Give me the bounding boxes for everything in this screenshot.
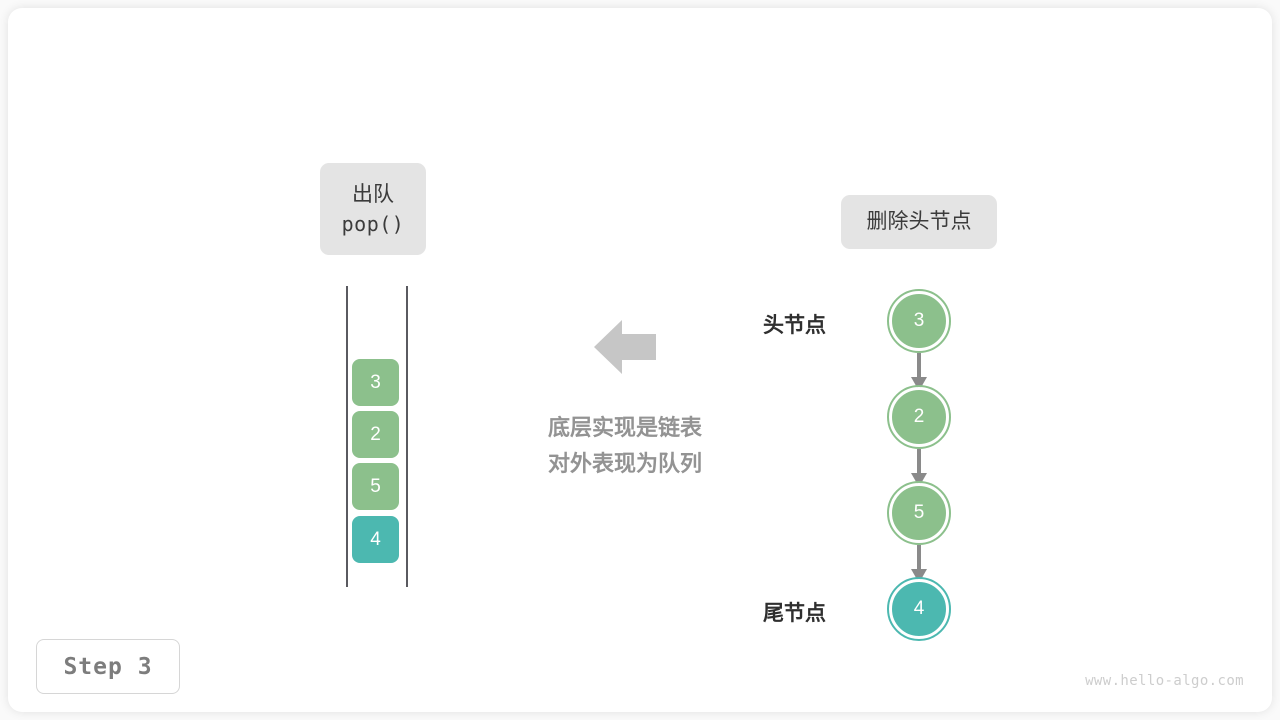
linked-list-edge-arrow-icon — [906, 545, 932, 583]
queue-cell: 5 — [352, 463, 399, 510]
implementation-label-text: 删除头节点 — [867, 207, 972, 237]
center-caption: 底层实现是链表 对外表现为队列 — [500, 410, 750, 482]
center-caption-line-1: 底层实现是链表 — [500, 410, 750, 446]
operation-label-method: pop() — [342, 210, 405, 238]
queue-cell-value: 5 — [370, 476, 381, 498]
queue-cell: 4 — [352, 516, 399, 563]
linked-list-node: 5 — [889, 483, 949, 543]
linked-list-node-value: 4 — [914, 598, 925, 620]
arrow-left-icon — [594, 317, 656, 377]
queue-cell: 2 — [352, 411, 399, 458]
tail-node-label: 尾节点 — [706, 597, 826, 627]
queue-cell-value: 3 — [370, 372, 381, 394]
queue-cell-value: 4 — [370, 529, 381, 551]
watermark: www.hello-algo.com — [1085, 673, 1244, 689]
queue-rail-right — [406, 286, 408, 587]
linked-list-node-value: 2 — [914, 406, 925, 428]
linked-list-edge-arrow-icon — [906, 449, 932, 487]
linked-list-node-value: 5 — [914, 502, 925, 524]
operation-label-title: 出队 — [352, 180, 394, 210]
linked-list-edge-arrow-icon — [906, 353, 932, 391]
queue-rail-left — [346, 286, 348, 587]
operation-label-box: 出队 pop() — [320, 163, 426, 255]
linked-list-node-value: 3 — [914, 310, 925, 332]
diagram-canvas: 出队 pop() 删除头节点 3254 底层实现是链表 对外表现为队列 3254… — [0, 0, 1280, 720]
queue-cell: 3 — [352, 359, 399, 406]
step-badge: Step 3 — [36, 639, 180, 694]
linked-list-node: 2 — [889, 387, 949, 447]
center-caption-line-2: 对外表现为队列 — [500, 446, 750, 482]
linked-list-node: 3 — [889, 291, 949, 351]
step-badge-label: Step 3 — [63, 654, 152, 680]
queue-cell-value: 2 — [370, 424, 381, 446]
linked-list-node: 4 — [889, 579, 949, 639]
head-node-label: 头节点 — [706, 309, 826, 339]
implementation-label-box: 删除头节点 — [841, 195, 997, 249]
